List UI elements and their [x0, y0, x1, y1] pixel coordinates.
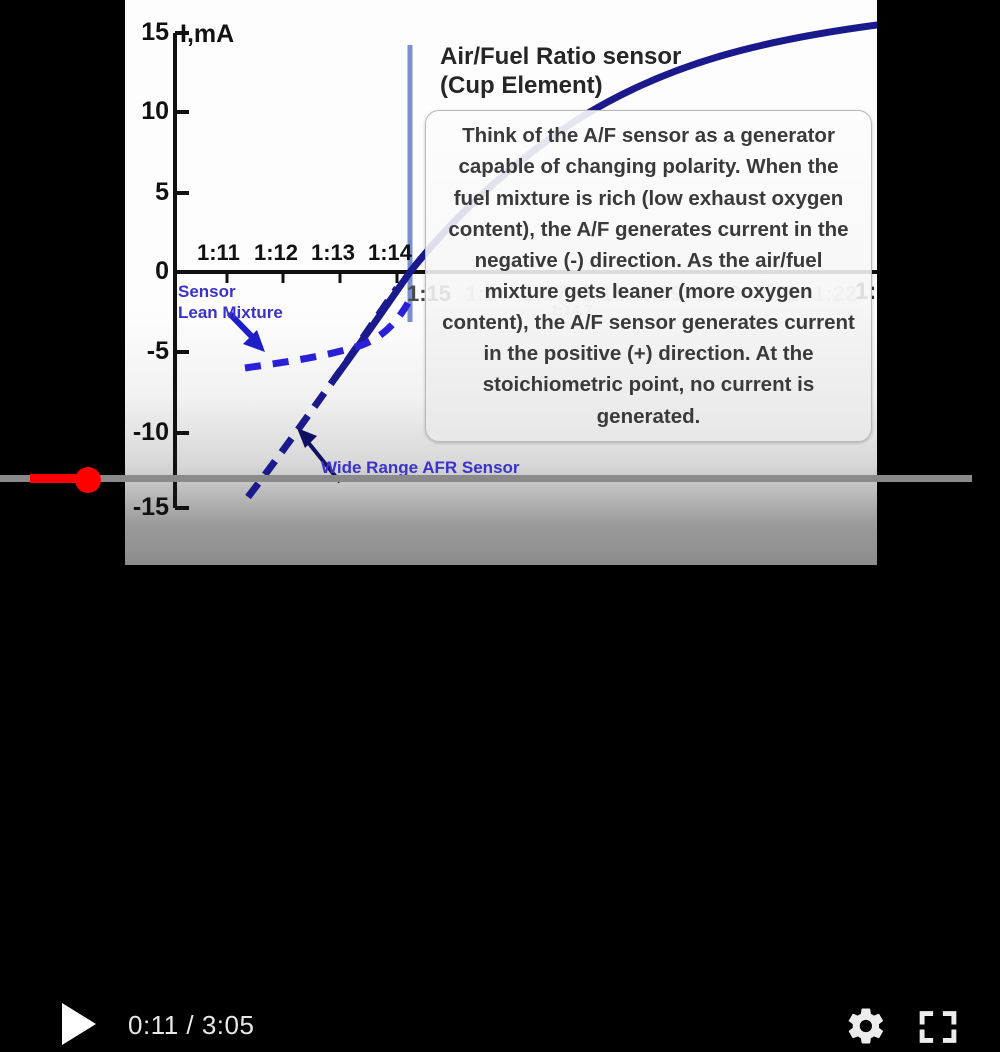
- y-axis-title: I,mA: [180, 20, 234, 49]
- y-tick-label-neg5: -5: [125, 337, 169, 366]
- time-display: 0:11 / 3:05: [128, 1010, 254, 1041]
- annotation-sensor-line2: Lean Mixture: [178, 303, 283, 322]
- progress-track[interactable]: [0, 475, 972, 482]
- fullscreen-icon[interactable]: [916, 1007, 960, 1047]
- chart-heading-line1: Air/Fuel Ratio sensor: [440, 43, 681, 70]
- video-player: 15 10 5 0 -5 -10 -15 I,mA 1:11 1:12 1:13…: [0, 0, 1000, 565]
- play-icon[interactable]: [62, 1003, 96, 1045]
- annotation-sensor-lean-mixture: Sensor Lean Mixture: [178, 281, 283, 324]
- gear-icon-svg: [845, 1005, 887, 1047]
- progress-bar[interactable]: [0, 471, 1000, 485]
- fullscreen-icon-svg: [916, 1007, 960, 1047]
- player-controls: 0:11 / 3:05: [0, 495, 1000, 565]
- y-tick-label-0: 0: [125, 257, 169, 286]
- y-tick-label-10: 10: [125, 97, 169, 126]
- y-tick-label-15: 15: [125, 18, 169, 47]
- y-tick-label-5: 5: [125, 178, 169, 207]
- gear-icon[interactable]: [845, 1005, 887, 1047]
- callout-box: Think of the A/F sensor as a generator c…: [425, 110, 872, 442]
- chart-heading-line2: (Cup Element): [440, 72, 603, 99]
- progress-scrubber-handle[interactable]: [75, 467, 101, 493]
- callout-text: Think of the A/F sensor as a generator c…: [426, 120, 871, 432]
- x-tick-label-1-14: 1:14: [368, 240, 412, 266]
- x-tick-label-1-11: 1:11: [197, 240, 240, 266]
- x-tick-label-1-13: 1:13: [311, 240, 355, 266]
- annotation-sensor-line1: Sensor: [178, 282, 236, 301]
- y-tick-label-neg10: -10: [125, 418, 169, 447]
- chart-heading: Air/Fuel Ratio sensor (Cup Element): [440, 42, 681, 101]
- x-tick-label-1-12: 1:12: [254, 240, 298, 266]
